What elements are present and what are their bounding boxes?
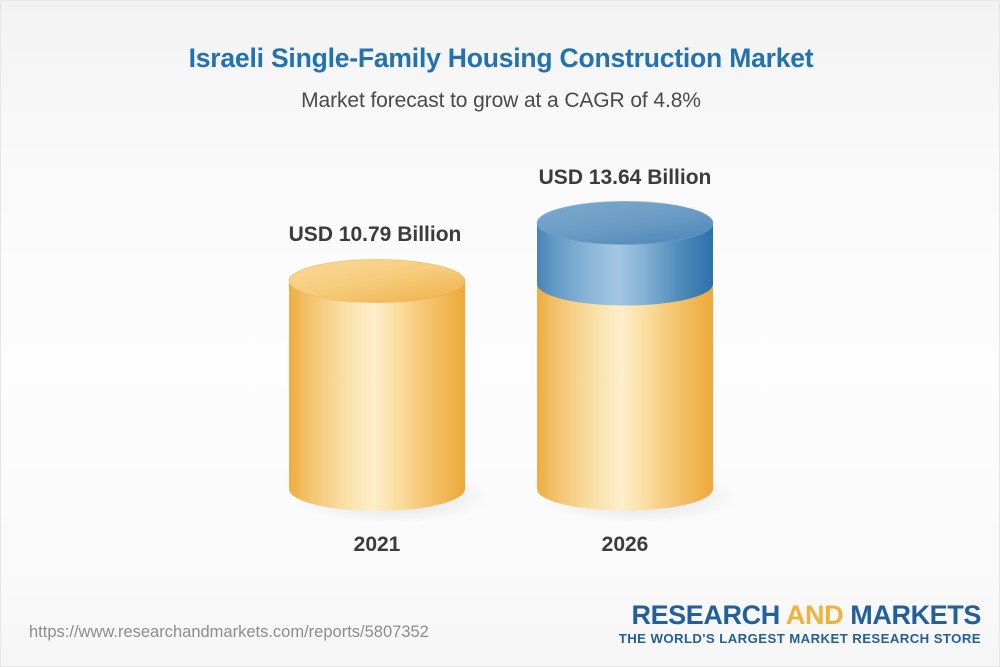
report-url-link[interactable]: https://www.researchandmarkets.com/repor… xyxy=(29,623,429,642)
chart-canvas: Israeli Single-Family Housing Constructi… xyxy=(0,0,1000,667)
bar-value-label-2026: USD 13.64 Billion xyxy=(475,166,775,190)
plot-area: USD 10.79 Billion xyxy=(1,1,1000,601)
brand-logo[interactable]: RESEARCH AND MARKETS THE WORLD'S LARGEST… xyxy=(619,601,981,646)
bar-value-label-2021: USD 10.79 Billion xyxy=(225,223,525,247)
brand-word-research: RESEARCH xyxy=(631,600,785,630)
brand-tagline: THE WORLD'S LARGEST MARKET RESEARCH STOR… xyxy=(619,631,981,646)
cylinder-bar-2026[interactable] xyxy=(535,201,715,521)
brand-word-markets: MARKETS xyxy=(843,600,981,630)
bar-category-label-2026: 2026 xyxy=(475,533,775,557)
brand-wordmark: RESEARCH AND MARKETS xyxy=(619,601,981,629)
cylinder-bar-2021[interactable] xyxy=(287,259,467,521)
brand-word-and: AND xyxy=(786,600,843,630)
